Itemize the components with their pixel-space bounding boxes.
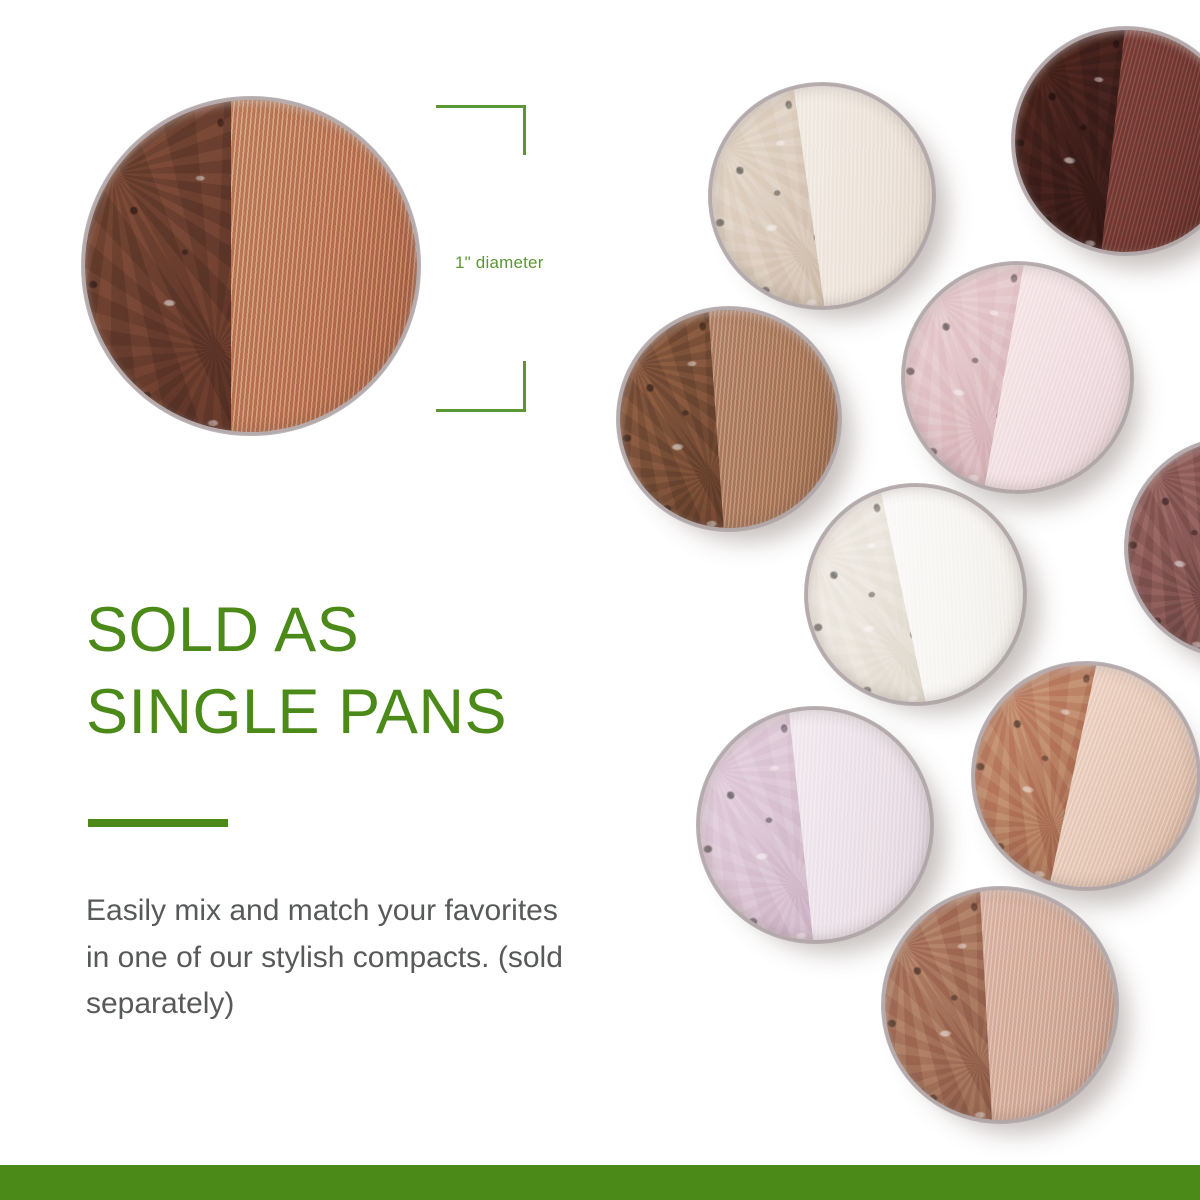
footer-accent-bar xyxy=(0,1165,1200,1200)
pan-rosy-beige-nude xyxy=(879,884,1121,1126)
bracket-bottom-vertical xyxy=(523,361,526,412)
pan-disc xyxy=(954,644,1200,907)
pressed-striation xyxy=(979,884,1120,1126)
body-paragraph: Easily mix and match your favorites in o… xyxy=(86,888,586,1028)
pan-rose-gold-copper xyxy=(954,644,1200,907)
pan-pressed-half xyxy=(707,303,845,536)
pan-crushed-half xyxy=(1114,426,1200,669)
headline-line-1: SOLD AS xyxy=(86,590,686,672)
bracket-bottom-horizontal xyxy=(436,409,526,412)
pan-disc xyxy=(698,72,946,320)
pan-deep-espresso-plum xyxy=(1004,19,1200,263)
pan-ivory-cream xyxy=(698,72,946,320)
pan-disc xyxy=(1114,426,1200,669)
pan-mauve-plum-brown xyxy=(1114,426,1200,669)
pan-soft-rose-pink xyxy=(887,247,1148,508)
hero-pan-copper-bronze xyxy=(85,100,417,432)
crushed-texture-overlay xyxy=(1114,426,1200,669)
pressed-striation xyxy=(231,100,417,432)
infographic-canvas: 1" diameter SOLD AS SINGLE PANS Easily m… xyxy=(0,0,1200,1200)
bracket-top-horizontal xyxy=(436,105,526,108)
page-headline: SOLD AS SINGLE PANS xyxy=(86,590,686,754)
bracket-top-vertical xyxy=(523,105,526,155)
pan-medium-taupe-brown xyxy=(613,303,846,536)
headline-line-2: SINGLE PANS xyxy=(86,672,686,754)
dimension-label: 1" diameter xyxy=(455,253,544,273)
accent-divider-rule xyxy=(88,819,228,827)
pan-pressed-half xyxy=(231,100,417,432)
pan-disc xyxy=(613,303,846,536)
pan-disc xyxy=(1004,19,1200,263)
pan-disc xyxy=(879,884,1121,1126)
pan-disc xyxy=(887,247,1148,508)
pan-pressed-half xyxy=(979,884,1120,1126)
pan-disc xyxy=(85,100,417,432)
pressed-striation xyxy=(707,303,845,536)
